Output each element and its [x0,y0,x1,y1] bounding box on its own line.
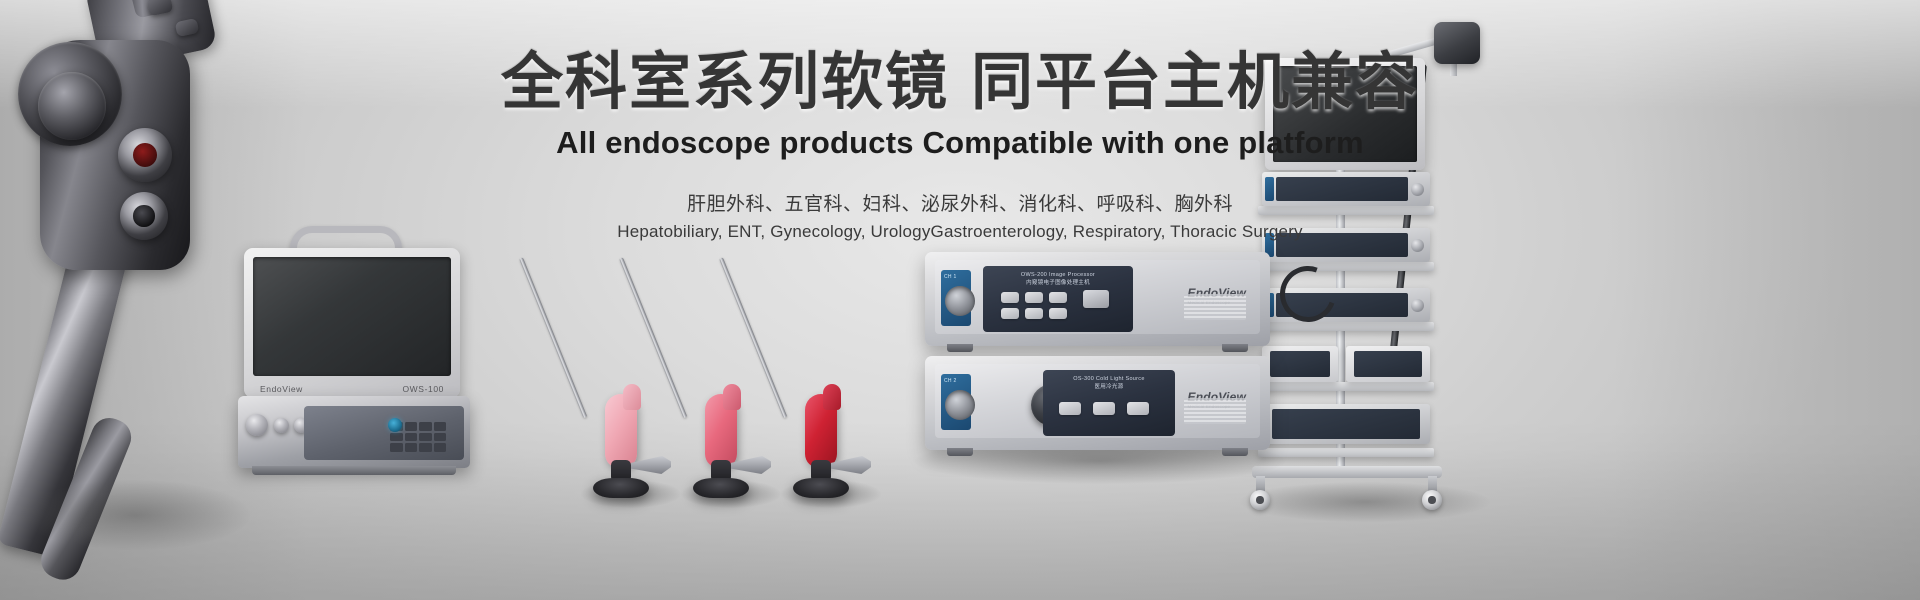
processor-button-6 [1049,308,1067,319]
processor-button-5 [1025,308,1043,319]
specialties-chinese: 肝胆外科、五官科、妇科、泌尿外科、消化科、呼吸科、胸外科 [0,189,1920,216]
workstation-control-panel [304,406,464,460]
light-source-unit: CH 2 OS-300 Cold Light Source 医用冷光源 Endo… [925,356,1270,450]
light-source-panel-title-cn: 医用冷光源 [1043,383,1175,391]
light-source-pump-button [1127,402,1149,415]
light-source-mode-button [1093,402,1115,415]
instrument-shaft [519,257,587,418]
processor-button-3 [1049,292,1067,303]
processor-vent [1184,294,1246,320]
light-source-output-port [945,390,975,420]
light-source-channel-label: CH 2 [944,378,957,384]
processor-usb-port [1083,290,1109,308]
cart-device-panel [1354,351,1422,377]
processor-channel-label: CH 1 [944,274,957,280]
workstation-scope-port [388,418,402,432]
cart-caster-wheel [1250,490,1270,510]
cart-shadow [1240,482,1490,522]
light-source-display-panel: OS-300 Cold Light Source 医用冷光源 [1043,370,1175,436]
unit-foot-left [947,344,973,352]
unit-foot-right [1222,344,1248,352]
processor-faceplate: CH 1 OWS-200 Image Processor 内窥镜电子图像处理主机 [935,260,1260,334]
light-source-faceplate: CH 2 OS-300 Cold Light Source 医用冷光源 Endo… [935,364,1260,438]
light-source-vent [1184,398,1246,424]
cart-shelf [1258,322,1434,331]
instrument-stand [793,478,849,498]
processor-scope-connector-port [945,286,975,316]
image-processor-unit: CH 1 OWS-200 Image Processor 内窥镜电子图像处理主机 [925,252,1270,346]
cart-base [1252,466,1442,478]
light-source-run-button [1059,402,1081,415]
cart-device-panel [1270,351,1330,377]
cart-shelf [1258,262,1434,271]
cart-shelf [1258,448,1434,457]
cart-device-panel [1272,409,1420,439]
unit-foot-right [1222,448,1248,456]
instrument-shaft [719,257,787,418]
instrument-shaft [619,257,687,418]
specialties-english: Hepatobiliary, ENT, Gynecology, UrologyG… [0,222,1920,242]
cart-device-aux-right [1346,346,1430,382]
banner-text-block: 全科室系列软镜同平台主机兼容 All endoscope products Co… [0,48,1920,242]
headline-primary: 全科室系列软镜 [501,48,949,117]
cart-device-knob [1411,299,1424,312]
marketing-banner: 全科室系列软镜同平台主机兼容 All endoscope products Co… [0,0,1920,600]
instrument-jaw [831,456,871,474]
rigid-instrument-red [705,258,875,508]
processor-unit-stack: CH 1 OWS-200 Image Processor 内窥镜电子图像处理主机 [925,252,1270,462]
cart-device-aux-left [1262,346,1338,382]
workstation-model-label: OWS-100 [402,384,444,394]
headline-secondary: 同平台主机兼容 [971,48,1419,117]
processor-button-1 [1001,292,1019,303]
processor-button-4 [1001,308,1019,319]
processor-panel-title-cn: 内窥镜电子图像处理主机 [983,279,1133,287]
light-source-panel-title: OS-300 Cold Light Source 医用冷光源 [1043,375,1175,392]
page-title: 全科室系列软镜同平台主机兼容 [0,48,1920,117]
instrument-neck [823,384,841,410]
light-source-panel-title-en: OS-300 Cold Light Source [1043,375,1175,383]
cart-device-bottom [1262,404,1430,444]
processor-button-2 [1025,292,1043,303]
processor-panel-title-en: OWS-200 Image Processor [983,271,1133,279]
processor-panel-title: OWS-200 Image Processor 内窥镜电子图像处理主机 [983,271,1133,288]
subtitle-english: All endoscope products Compatible with o… [0,125,1920,161]
processor-display-panel: OWS-200 Image Processor 内窥镜电子图像处理主机 [983,266,1133,332]
unit-foot-left [947,448,973,456]
cart-caster-wheel [1422,490,1442,510]
cart-shelf [1258,382,1434,391]
